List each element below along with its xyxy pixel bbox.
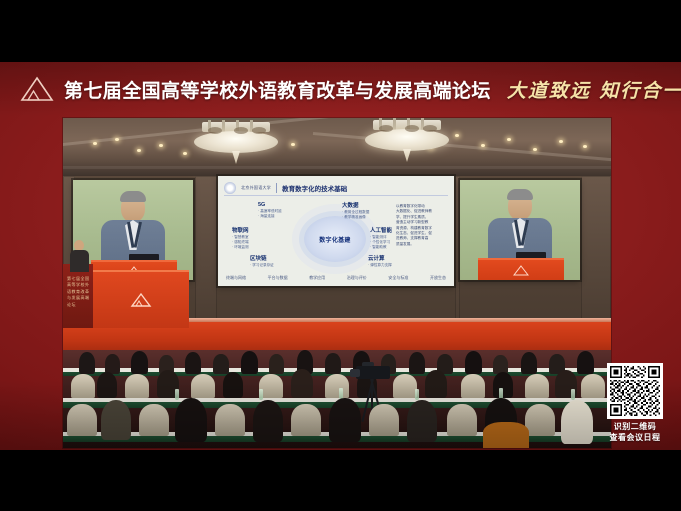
slide-title: 教育数字化的技术基础: [282, 183, 347, 193]
slide-university-name: 北京外国语大学: [241, 185, 271, 191]
slide-note-line: 质量发展。: [396, 242, 448, 247]
slide-hub-label: 数字化基建: [319, 235, 351, 244]
right-projection-screen: [460, 180, 580, 280]
conference-hall-photo: 北京外国语大学 教育数字化的技术基础 数字化基建 5G · 高速率低时延 · 海…: [63, 118, 611, 448]
mountain-outline-logo-icon: [20, 76, 54, 102]
stage-attendant: [69, 240, 91, 270]
slide-node-line: · 教学精准画像: [342, 215, 394, 220]
slide-node-title: 物联网: [232, 226, 284, 234]
university-crest-icon: [224, 182, 236, 194]
chandelier: [361, 118, 453, 162]
slide-node-title: 区块链: [250, 254, 302, 262]
slide-footer-item: 安全与标准: [388, 275, 408, 281]
qr-code-block[interactable]: 识别二维码 查看会议日程: [599, 363, 671, 444]
slide-node: 区块链 · 学习记录存证: [250, 254, 302, 268]
slide-footer-item: 平台与数据: [268, 275, 288, 281]
stage-backdrop: 第七届全国高等学校外语教育改革与发展高端论坛 大道致远 知行合一: [0, 62, 681, 450]
slide-footer-item: 治理与评价: [347, 275, 367, 281]
slide-footer-item: 开放生态: [430, 275, 446, 281]
podium-side-panel: 第七届全国高等学校外语教育改革与发展高端论坛: [63, 264, 93, 328]
slide-node-line: · 弹性算力支撑: [368, 263, 420, 268]
slide-note-block: 以教育数字化带动 大数据化、促进教师教 学、提升学生素质、 营造主动学习新型教 …: [396, 204, 448, 247]
event-slogan: 大道致远 知行合一: [507, 76, 681, 103]
letterbox-bottom: [0, 450, 681, 511]
podium: [93, 270, 189, 328]
slide-node-line: · 海量连接: [258, 214, 310, 219]
slide-header-divider: [276, 183, 277, 193]
slide-footer: 终端与网络 平台与数据 教学应用 治理与评价 安全与标准 开放生态: [226, 275, 446, 281]
slide-node-title: 5G: [258, 202, 310, 208]
slide-center-hub: 数字化基建: [304, 216, 366, 262]
slide-footer-item: 终端与网络: [226, 275, 246, 281]
ceiling: [63, 118, 611, 178]
slide-node-title: 大数据: [342, 201, 394, 209]
slide-node: 物联网 · 智慧教室 · 感知终端 · 环境监测: [232, 226, 284, 251]
qr-caption-line-2: 查看会议日程: [599, 433, 671, 444]
slide-node-line: · 环境监测: [232, 245, 284, 250]
letterbox-top: [0, 0, 681, 62]
chandelier: [190, 120, 282, 164]
slide-header: 北京外国语大学 教育数字化的技术基础: [224, 181, 448, 194]
podium-logo-icon: [513, 265, 529, 276]
video-frame: 第七届全国高等学校外语教育改革与发展高端论坛 大道致远 知行合一: [0, 0, 681, 511]
audience-area: [63, 350, 611, 448]
slide-node: 5G · 高速率低时延 · 海量连接: [258, 202, 310, 219]
event-banner: 第七届全国高等学校外语教育改革与发展高端论坛 大道致远 知行合一: [0, 62, 681, 116]
slide-node-title: 云计算: [368, 254, 420, 262]
center-presentation-screen: 北京外国语大学 教育数字化的技术基础 数字化基建 5G · 高速率低时延 · 海…: [218, 176, 454, 286]
qr-caption-line-1: 识别二维码: [599, 422, 671, 433]
podium-logo-icon: [130, 292, 152, 308]
qr-code-icon[interactable]: [607, 363, 663, 419]
slide-node: 大数据 · 教育全过程数据 · 教学精准画像: [342, 201, 394, 220]
event-title: 第七届全国高等学校外语教育改革与发展高端论坛: [64, 76, 491, 103]
slide-node-line: · 学习记录存证: [250, 263, 302, 268]
slide-header-rule: [224, 195, 448, 196]
slide-node: 云计算 · 弹性算力支撑: [368, 254, 420, 268]
podium-side-text: 第七届全国高等学校外语教育改革与发展高端论坛: [67, 276, 93, 308]
slide-footer-item: 教学应用: [309, 275, 325, 281]
